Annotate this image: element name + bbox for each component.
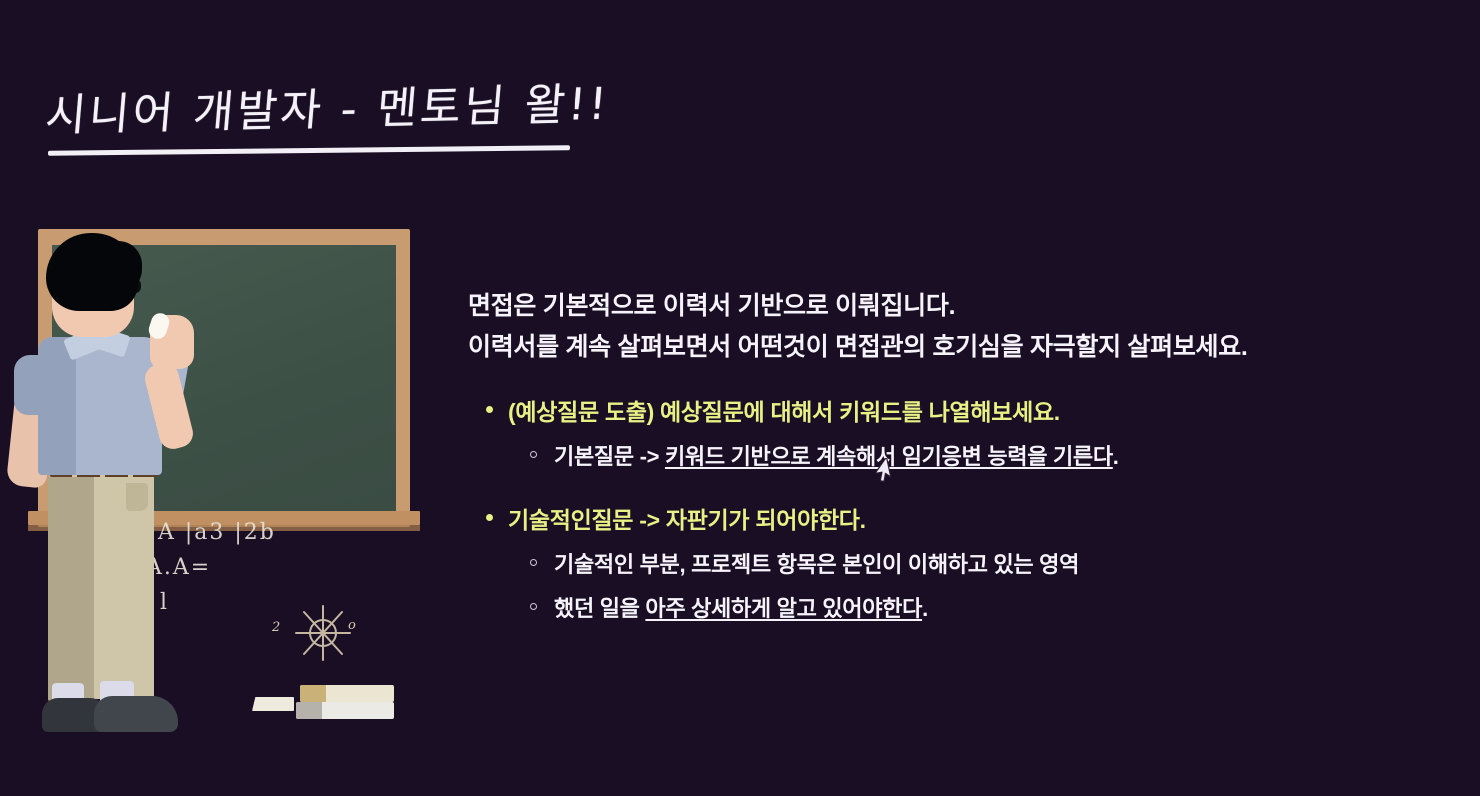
bullet-group-spacer bbox=[468, 471, 1480, 501]
bullet-text-tail: . bbox=[1113, 444, 1119, 469]
chalkboard-illustration: A |a3 |2b A.A= l 2 o bbox=[0, 215, 440, 735]
pants-pocket bbox=[126, 483, 148, 511]
bullet-text-underlined: 키워드 기반으로 계속해서 임기응변 능력을 기른다 bbox=[665, 444, 1113, 469]
page-title: 시니어 개발자 - 멘토님 왈!! bbox=[43, 80, 668, 141]
presentation-slide: 시니어 개발자 - 멘토님 왈!! A |a3 |2b A.A= l 2 o bbox=[0, 0, 1480, 796]
lead-line-1: 면접은 기본적으로 이력서 기반으로 이뤄집니다. bbox=[468, 286, 1480, 327]
bullet-item-level1: (예상질문 도출) 예상질문에 대해서 키워드를 나열해보세요. bbox=[468, 393, 1480, 427]
bullet-text-underlined: 아주 상세하게 알고 있어야한다 bbox=[645, 596, 922, 621]
slide-title-block: 시니어 개발자 - 멘토님 왈!! bbox=[46, 86, 666, 134]
bullet-list: (예상질문 도출) 예상질문에 대해서 키워드를 나열해보세요. 기본질문 ->… bbox=[468, 393, 1480, 623]
bullet-item-level2: 기술적인 부분, 프로젝트 항목은 본인이 이해하고 있는 영역 bbox=[468, 547, 1480, 579]
bullet-item-level2: 했던 일을 아주 상세하게 알고 있어야한다. bbox=[468, 591, 1480, 623]
bullet-item-level2: 기본질문 -> 키워드 기반으로 계속해서 임기응변 능력을 기른다. bbox=[468, 439, 1480, 471]
slide-body: 면접은 기본적으로 이력서 기반으로 이뤄집니다. 이력서를 계속 살펴보면서 … bbox=[468, 286, 1480, 623]
bullet-text-tail: . bbox=[922, 596, 928, 621]
bullet-text-plain: 기본질문 -> bbox=[554, 444, 665, 469]
sleeve-back bbox=[14, 355, 58, 415]
shoe-right bbox=[94, 696, 178, 732]
lead-line-2: 이력서를 계속 살펴보면서 어떤것이 면접관의 호기심을 자극할지 살펴보세요. bbox=[468, 327, 1480, 368]
bullet-text-plain: 기술적인 부분, 프로젝트 항목은 본인이 이해하고 있는 영역 bbox=[554, 552, 1079, 577]
title-underline bbox=[48, 145, 570, 155]
bullet-text-plain: 했던 일을 bbox=[554, 596, 645, 621]
bullet-item-level1: 기술적인질문 -> 자판기가 되어야한다. bbox=[468, 501, 1480, 535]
person-figure bbox=[0, 215, 440, 735]
pants-shade bbox=[48, 471, 94, 701]
